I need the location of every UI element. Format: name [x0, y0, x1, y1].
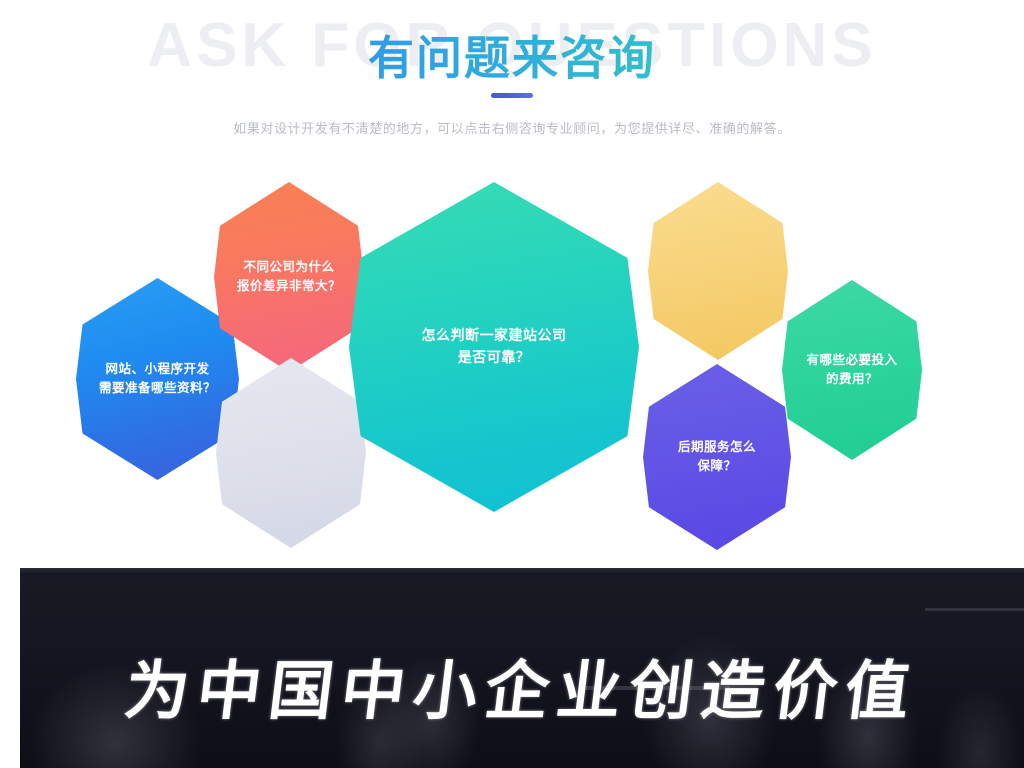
- hex-line-1: 后期服务怎么: [678, 438, 756, 457]
- page-subtitle: 如果对设计开发有不清楚的地方，可以点击右侧咨询专业顾问，为您提供详尽、准确的解答…: [0, 118, 1024, 137]
- hex-cell-decorative-yellow: [648, 182, 788, 360]
- banner-slogan: 为中国中小企业创造价值: [20, 640, 1024, 732]
- hex-line-1: 不同公司为什么: [243, 258, 334, 277]
- title-divider: [491, 93, 533, 98]
- hex-line-1: 有哪些必要投入: [806, 351, 897, 370]
- banner-top-edge: [20, 568, 1024, 575]
- hex-cell-website-materials[interactable]: 网站、小程序开发 需要准备哪些资料？: [76, 278, 239, 480]
- bottom-banner: 为中国中小企业创造价值: [20, 568, 1024, 768]
- hex-cell-decorative-grey: [216, 358, 366, 548]
- hex-line-1: 网站、小程序开发: [105, 360, 209, 379]
- banner-decor-rail-secondary: [925, 608, 1024, 611]
- hex-line-2: 的费用？: [826, 370, 878, 389]
- hex-cell-necessary-costs[interactable]: 有哪些必要投入 的费用？: [782, 280, 922, 460]
- hex-line-2: 是否可靠？: [458, 347, 531, 369]
- page-title: 有问题来咨询: [0, 22, 1024, 88]
- hex-line-2: 需要准备哪些资料？: [99, 379, 216, 398]
- hex-cell-after-sales-service[interactable]: 后期服务怎么 保障？: [643, 364, 791, 550]
- honeycomb-grid: 网站、小程序开发 需要准备哪些资料？ 不同公司为什么 报价差异非常大？ 怎么判断…: [0, 160, 1024, 560]
- hex-cell-company-reliability[interactable]: 怎么判断一家建站公司 是否可靠？: [349, 182, 639, 512]
- hex-line-2: 报价差异非常大？: [237, 277, 341, 296]
- section-header: ASK FOR QUESTIONS 有问题来咨询 如果对设计开发有不清楚的地方，…: [0, 0, 1024, 160]
- hex-cell-price-difference[interactable]: 不同公司为什么 报价差异非常大？: [214, 182, 364, 372]
- hex-line-2: 保障？: [697, 457, 736, 476]
- hex-line-1: 怎么判断一家建站公司: [422, 325, 567, 347]
- page-root: ASK FOR QUESTIONS 有问题来咨询 如果对设计开发有不清楚的地方，…: [0, 0, 1024, 768]
